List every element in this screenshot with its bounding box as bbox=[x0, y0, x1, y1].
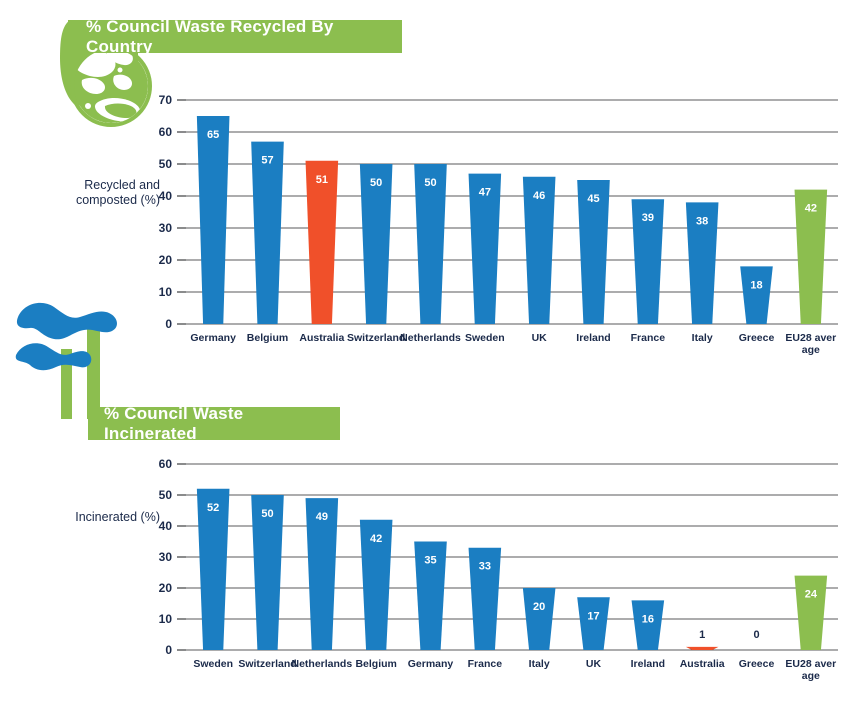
category-label: France bbox=[631, 332, 666, 344]
bar-value-label: 18 bbox=[750, 279, 762, 291]
category-label: Italy bbox=[529, 658, 550, 670]
bar-group[interactable]: 50Switzerland bbox=[238, 495, 296, 670]
banner-recycled-label: % Council Waste Recycled By Country bbox=[86, 17, 402, 57]
bar-value-label: 16 bbox=[642, 613, 654, 625]
bar-value-label: 50 bbox=[424, 177, 436, 189]
category-label: UK bbox=[586, 658, 602, 670]
bar-group[interactable]: 57Belgium bbox=[247, 142, 288, 344]
category-label: UK bbox=[532, 332, 548, 344]
bar-value-label: 47 bbox=[479, 187, 491, 199]
category-label: Germany bbox=[190, 332, 236, 344]
bar-group[interactable]: 49Netherlands bbox=[291, 498, 352, 670]
bar-value-label: 51 bbox=[316, 174, 328, 186]
banner-incinerated-label: % Council Waste Incinerated bbox=[104, 404, 340, 444]
category-label: Germany bbox=[408, 658, 454, 670]
bar-group[interactable]: 50Switzerland bbox=[347, 164, 405, 344]
bar-group[interactable]: 45Ireland bbox=[576, 180, 610, 344]
bar[interactable] bbox=[251, 142, 284, 324]
bar-value-label: 45 bbox=[587, 193, 599, 205]
category-label: Australia bbox=[680, 658, 725, 670]
bar-group[interactable]: 42EU28 average bbox=[785, 190, 836, 356]
bar-group[interactable]: 42Belgium bbox=[355, 520, 396, 670]
bar-group[interactable]: 24EU28 average bbox=[785, 576, 836, 682]
category-label: Belgium bbox=[247, 332, 288, 344]
bar-group[interactable]: 39France bbox=[631, 199, 666, 344]
banner-incinerated-title: % Council Waste Incinerated bbox=[88, 407, 340, 440]
bar-value-label: 20 bbox=[533, 601, 545, 613]
bar-value-label: 52 bbox=[207, 502, 219, 514]
category-label: Sweden bbox=[193, 658, 233, 670]
bar-group[interactable]: 33France bbox=[468, 548, 503, 670]
category-label: EU28 aver bbox=[785, 332, 836, 344]
bar-value-label: 0 bbox=[753, 629, 759, 641]
category-label: Greece bbox=[739, 332, 775, 344]
bar-value-label: 39 bbox=[642, 212, 654, 224]
category-label: Ireland bbox=[631, 658, 665, 670]
y-tick-label: 10 bbox=[159, 612, 173, 626]
bar-group[interactable]: 35Germany bbox=[408, 542, 454, 671]
bar-group[interactable]: 52Sweden bbox=[193, 489, 233, 670]
y-tick-label: 20 bbox=[159, 253, 173, 267]
bar[interactable] bbox=[740, 266, 773, 324]
category-label: France bbox=[468, 658, 503, 670]
bar[interactable] bbox=[795, 576, 828, 650]
bar-value-label: 33 bbox=[479, 561, 491, 573]
category-label: age bbox=[802, 670, 820, 682]
y-tick-label: 50 bbox=[159, 157, 173, 171]
bar-group[interactable]: 20Italy bbox=[523, 588, 556, 670]
bar-group[interactable]: 65Germany bbox=[190, 116, 236, 344]
bar-group[interactable]: 18Greece bbox=[739, 266, 775, 344]
category-label: Greece bbox=[739, 658, 775, 670]
y-tick-label: 30 bbox=[159, 550, 173, 564]
bar-value-label: 50 bbox=[261, 508, 273, 520]
bar-value-label: 1 bbox=[699, 629, 705, 641]
bar-group[interactable]: 51Australia bbox=[299, 161, 344, 344]
y-tick-label: 20 bbox=[159, 581, 173, 595]
category-label: Italy bbox=[692, 332, 713, 344]
category-label: Netherlands bbox=[291, 658, 352, 670]
bar[interactable] bbox=[523, 588, 556, 650]
bar-value-label: 57 bbox=[261, 155, 273, 167]
bar-value-label: 42 bbox=[370, 533, 382, 545]
bar-value-label: 50 bbox=[370, 177, 382, 189]
category-label: Switzerland bbox=[238, 658, 296, 670]
category-label: Switzerland bbox=[347, 332, 405, 344]
y-tick-label: 60 bbox=[159, 457, 173, 471]
category-label: EU28 aver bbox=[785, 658, 836, 670]
category-label: Netherlands bbox=[400, 332, 461, 344]
y-tick-label: 40 bbox=[159, 519, 173, 533]
bar[interactable] bbox=[577, 597, 610, 650]
banner-recycled-title: % Council Waste Recycled By Country bbox=[68, 20, 402, 53]
y-tick-label: 50 bbox=[159, 488, 173, 502]
bar-value-label: 24 bbox=[805, 589, 818, 601]
y-tick-label: 0 bbox=[165, 317, 172, 331]
bar-value-label: 35 bbox=[424, 555, 436, 567]
bar[interactable] bbox=[197, 116, 230, 324]
bar-group[interactable]: 17UK bbox=[577, 597, 610, 670]
y-tick-label: 0 bbox=[165, 643, 172, 657]
bar-value-label: 17 bbox=[587, 610, 599, 622]
category-label: Australia bbox=[299, 332, 344, 344]
bar-group[interactable]: 47Sweden bbox=[465, 174, 505, 344]
bar-value-label: 42 bbox=[805, 203, 817, 215]
bar-value-label: 46 bbox=[533, 190, 545, 202]
bar-group[interactable]: 46UK bbox=[523, 177, 556, 344]
bar-value-label: 38 bbox=[696, 215, 708, 227]
category-label: Sweden bbox=[465, 332, 505, 344]
category-label: Belgium bbox=[355, 658, 396, 670]
y-tick-label: 30 bbox=[159, 221, 173, 235]
category-label: age bbox=[802, 344, 820, 356]
bar-group[interactable]: 16Ireland bbox=[631, 600, 665, 670]
y-tick-label: 40 bbox=[159, 189, 173, 203]
bar-group[interactable]: 38Italy bbox=[686, 202, 719, 344]
category-label: Ireland bbox=[576, 332, 610, 344]
bar-value-label: 65 bbox=[207, 129, 219, 141]
bar-value-label: 49 bbox=[316, 511, 328, 523]
chart-incinerated: 010203040506052Sweden50Switzerland49Neth… bbox=[0, 450, 848, 700]
y-tick-label: 10 bbox=[159, 285, 173, 299]
bar-group[interactable]: 50Netherlands bbox=[400, 164, 461, 344]
